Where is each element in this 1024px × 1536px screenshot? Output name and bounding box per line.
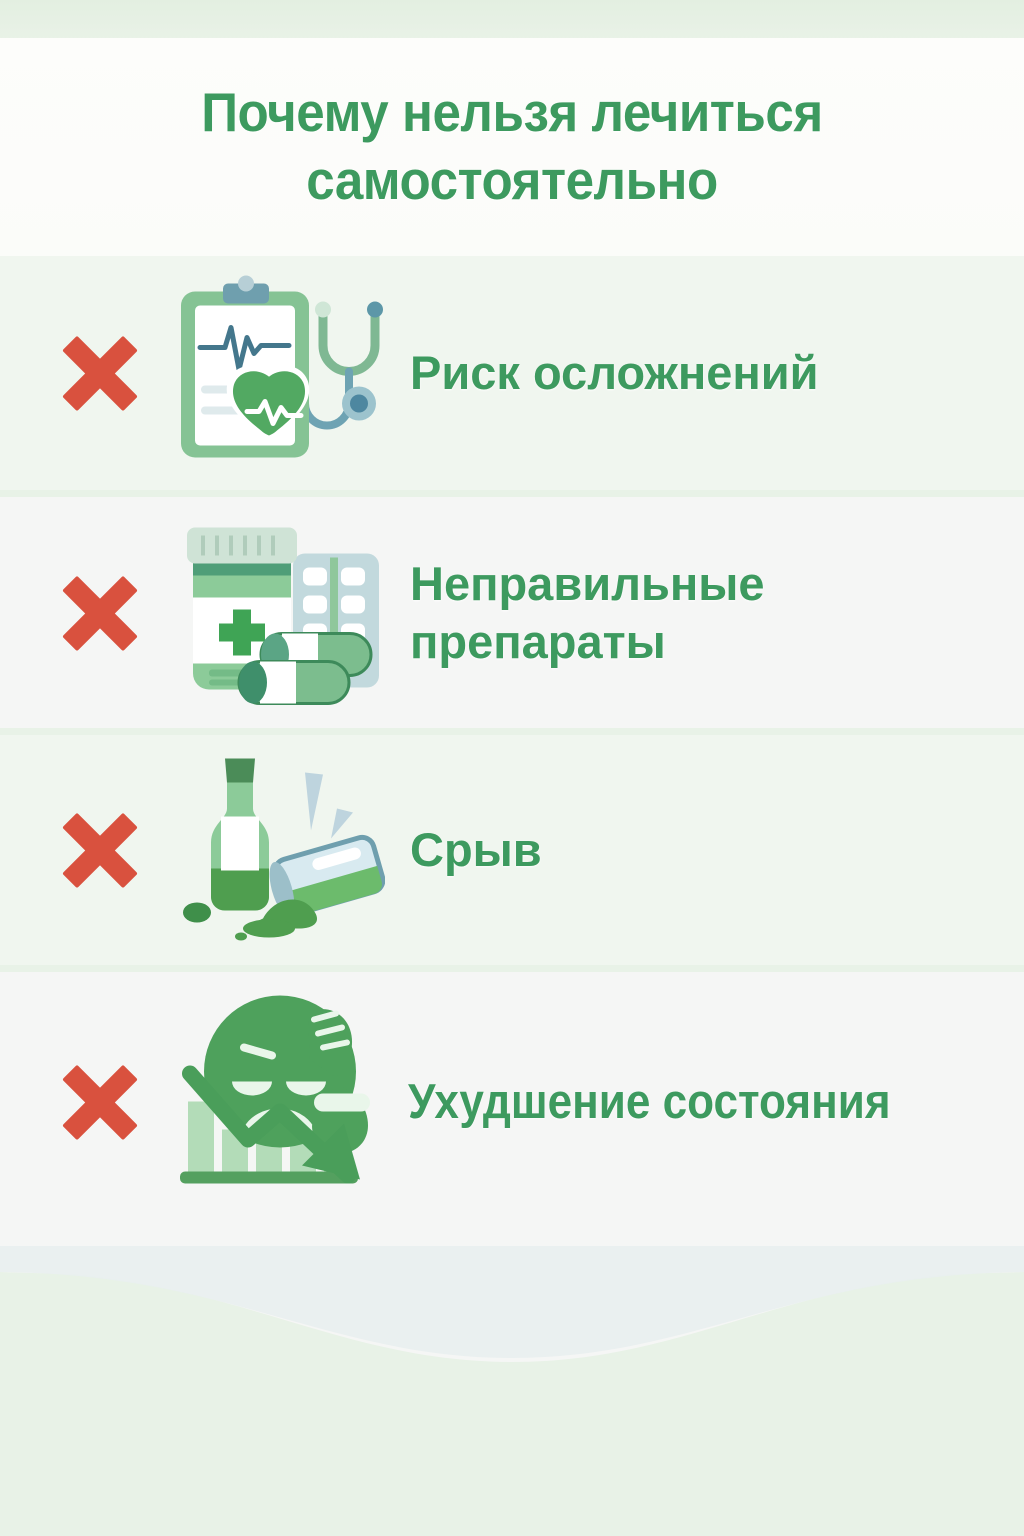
list-item-relapse: Срыв <box>0 735 1024 965</box>
list-item-label: Срыв <box>390 821 1024 879</box>
poster-canvas: Почему нельзя лечиться самостоятельно <box>0 0 1024 1536</box>
list-item-label: Неправильные препараты <box>390 555 1024 671</box>
list-item-wrong-drugs: Неправильные препараты <box>0 497 1024 728</box>
red-cross-icon <box>50 1052 150 1152</box>
pill-bottle-blister-capsules-icon <box>150 497 390 728</box>
header-card: Почему нельзя лечиться самостоятельно <box>0 38 1024 256</box>
list-item-label: Риск осложнений <box>390 344 1024 402</box>
sad-face-declining-chart-icon <box>150 972 390 1232</box>
list-item-risk: Риск осложнений <box>0 256 1024 490</box>
red-cross-icon <box>50 563 150 663</box>
bottle-spilled-glass-icon <box>150 735 390 965</box>
list-item-label: Ухудшение состояния <box>390 1073 961 1131</box>
red-cross-icon <box>50 800 150 900</box>
red-cross-icon <box>50 323 150 423</box>
page-title: Почему нельзя лечиться самостоятельно <box>92 78 933 214</box>
top-accent-strip <box>0 0 1024 40</box>
list-item-worsening: Ухудшение состояния <box>0 972 1024 1232</box>
bottom-wave-decoration <box>0 1232 1024 1536</box>
clipboard-heart-stethoscope-icon <box>150 256 390 490</box>
